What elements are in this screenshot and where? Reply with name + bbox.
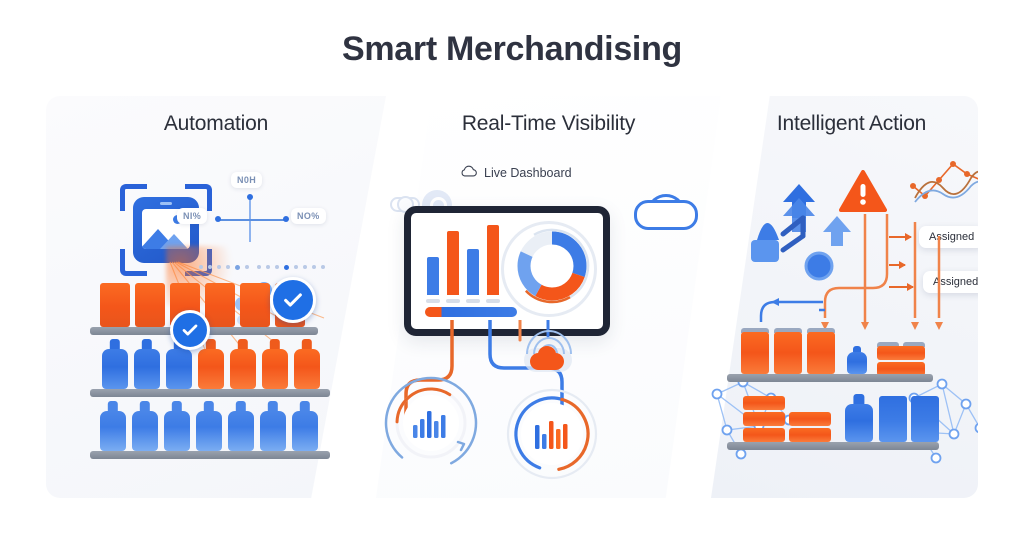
metric-chip-top: N0H [231, 172, 262, 188]
bar-4 [487, 225, 499, 295]
panel-intelligent-action[interactable]: Intelligent Action [711, 96, 978, 498]
product-bottle [230, 339, 256, 389]
product-bottle [847, 346, 867, 374]
product-bottle [198, 339, 224, 389]
crate [774, 332, 802, 374]
product-bottle [260, 401, 286, 451]
crate [789, 428, 831, 442]
bar-3 [467, 249, 479, 295]
metric-chip-left: NI% [177, 208, 207, 224]
product-bottle [100, 401, 126, 451]
metric-cross-group: N0H NI% NO% [191, 174, 331, 254]
crate [911, 396, 939, 442]
crate [807, 332, 835, 374]
product-bottle [294, 339, 320, 389]
product-box [205, 283, 235, 327]
panel-real-time-visibility[interactable]: Real-Time Visibility Live Dashboard [376, 96, 721, 498]
panel-visibility-title: Real-Time Visibility [376, 112, 721, 136]
shelf-plank [727, 442, 939, 450]
panel-automation-title: Automation [46, 112, 386, 136]
dotted-separator [199, 264, 327, 270]
check-badge-icon [270, 277, 316, 323]
bar-tick [426, 299, 440, 303]
routing-lines [819, 214, 978, 334]
product-bottle [845, 394, 873, 442]
product-bottle [228, 401, 254, 451]
panel-action-title: Intelligent Action [711, 112, 978, 136]
kpi-widget-left[interactable] [382, 374, 480, 472]
product-bottle [134, 339, 160, 389]
product-bottle [132, 401, 158, 451]
product-box [240, 283, 270, 327]
product-bottle [196, 401, 222, 451]
product-box [100, 283, 130, 327]
crate [789, 412, 831, 426]
product-box [135, 283, 165, 327]
crate [879, 396, 907, 442]
wifi-cloud-icon [516, 326, 578, 374]
dashboard-progress-bar [425, 307, 517, 317]
feedback-arrow [751, 292, 831, 332]
bar-2 [447, 231, 459, 295]
cross-dot-right [283, 216, 289, 222]
metric-chip-right: NO% [291, 208, 326, 224]
crate [743, 412, 785, 426]
product-bottle [262, 339, 288, 389]
bar-tick [486, 299, 500, 303]
dashboard-progress-fill [425, 307, 517, 317]
cross-dot-left [215, 216, 221, 222]
crate [743, 428, 785, 442]
crate [877, 346, 925, 360]
live-dashboard-status: Live Dashboard [460, 164, 572, 182]
cross-dot-top [247, 194, 253, 200]
kpi-left-mini-bars [412, 408, 452, 438]
warning-triangle-icon [839, 170, 887, 214]
live-dashboard-label: Live Dashboard [484, 166, 572, 180]
dashboard-monitor[interactable] [404, 206, 610, 336]
page-title: Smart Merchandising [0, 30, 1024, 69]
scan-bracket-bottom-left [120, 249, 147, 276]
crate [743, 396, 785, 410]
bar-1 [427, 257, 439, 295]
product-bottle [292, 401, 318, 451]
shelf-plank [727, 374, 933, 382]
product-bottle [164, 401, 190, 451]
intelligent-action-trend [909, 158, 978, 206]
panel-automation[interactable]: Automation [46, 96, 386, 498]
shelf-plank [90, 389, 330, 397]
scan-notch [160, 202, 172, 205]
crate [741, 332, 769, 374]
cloud-icon [634, 194, 692, 232]
panel-band: Automation [46, 96, 978, 498]
scan-bracket-top-left [120, 184, 147, 211]
cloud-icon [460, 164, 477, 182]
check-badge-icon [170, 310, 210, 350]
product-bottle [102, 339, 128, 389]
kpi-right-mini-bars [534, 419, 572, 449]
bar-tick [466, 299, 480, 303]
bar-tick [446, 299, 460, 303]
dashboard-donut-chart [513, 227, 591, 305]
shelf-plank [90, 451, 330, 459]
kpi-widget-right[interactable] [504, 386, 600, 482]
infographic-page: Smart Merchandising Automation [0, 0, 1024, 559]
cross-horizontal [217, 219, 287, 221]
